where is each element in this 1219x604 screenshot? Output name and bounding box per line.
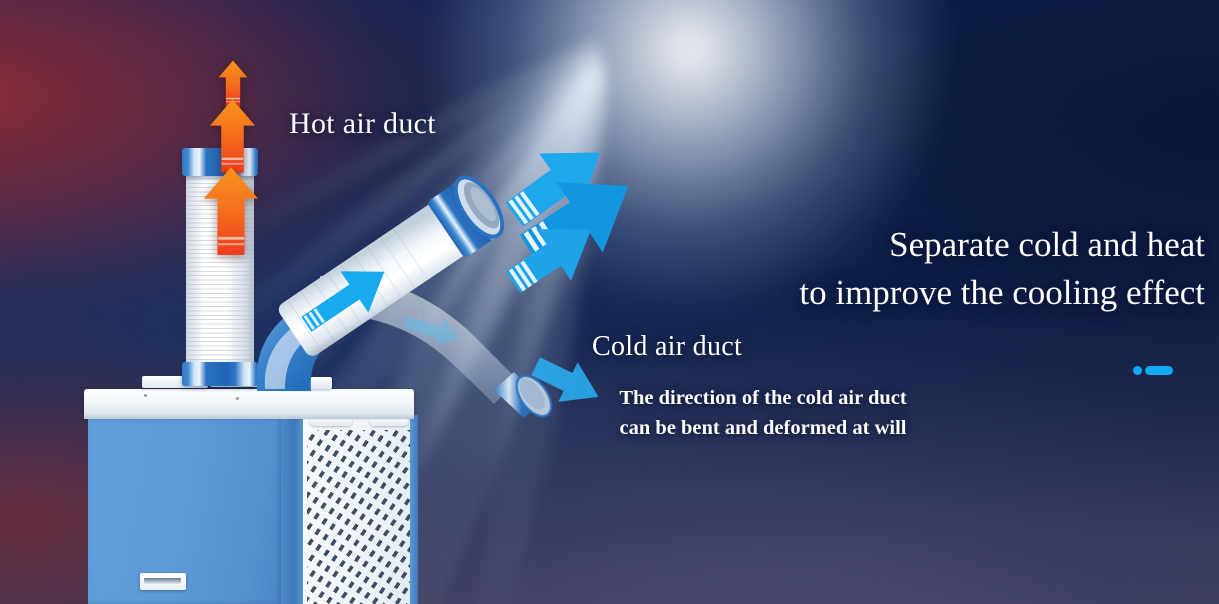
cold-duct-mouth: [447, 170, 512, 244]
unit-handle-slot: [144, 578, 181, 584]
unit-screw-2: [236, 397, 239, 400]
description-line-2: can be bent and deformed at will: [592, 413, 934, 443]
headline-line-2: to improve the cooling effect: [799, 269, 1205, 317]
cold-duct-ribs: [288, 229, 428, 350]
spot-cooler-unit: [84, 374, 422, 604]
headline-line-1: Separate cold and heat: [799, 221, 1205, 269]
slider-bar-icon[interactable]: [1145, 366, 1173, 375]
deck-block-3: [274, 377, 332, 389]
ghost-duct-collar: [494, 370, 558, 422]
hot-air-duct-label: Hot air duct: [289, 107, 436, 141]
unit-grille-panel: [303, 414, 414, 604]
light-ray-7: [449, 51, 626, 604]
cold-air-duct-label: Cold air duct: [592, 331, 742, 363]
slider-dot-icon[interactable]: [1133, 366, 1142, 375]
cool-air-arrow-upper: [498, 138, 618, 228]
ghost-duct-ribs: [342, 274, 448, 352]
unit-screw-1: [144, 394, 147, 397]
cold-duct-tube: [274, 175, 504, 361]
hot-arrow-medium: [209, 98, 256, 174]
unit-front-panel: [88, 418, 281, 604]
grille-slot-pattern: [307, 430, 410, 604]
cool-air-arrow-middle: [514, 168, 644, 268]
cool-air-arrow-lower: [500, 216, 605, 296]
cold-air-duct-assembly: [243, 155, 573, 405]
description-line-1: The direction of the cold air duct: [592, 383, 934, 413]
hot-arrow-large: [202, 166, 260, 256]
hot-air-duct-collar-bottom: [182, 362, 258, 386]
headline: Separate cold and heat to improve the co…: [799, 221, 1205, 317]
product-banner: Hot air duct Cold air duct Separate cold…: [0, 0, 1219, 604]
ghost-duct-flow-arrow: [401, 309, 463, 351]
cold-duct-description: The direction of the cold air duct can b…: [592, 383, 934, 443]
carousel-indicator[interactable]: [1133, 366, 1173, 375]
unit-side-strip: [281, 416, 303, 604]
unit-top-edge: [84, 412, 414, 419]
unit-handle-plate: [140, 573, 186, 590]
unit-right-rim: [410, 415, 418, 604]
cold-duct-surface-arrow: [292, 251, 398, 345]
